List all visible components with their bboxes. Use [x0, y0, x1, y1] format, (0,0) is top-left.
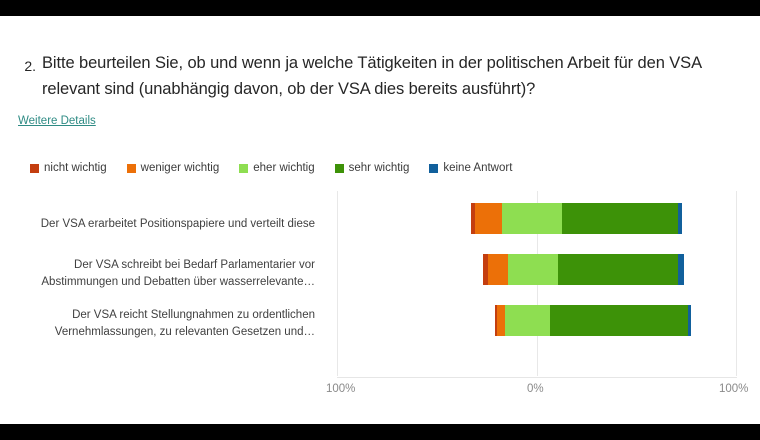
bar-segment[interactable]: [688, 305, 691, 336]
legend-label: eher wichtig: [253, 162, 314, 174]
question-title: Bitte beurteilen Sie, ob und wenn ja wel…: [42, 50, 742, 102]
bar-segment[interactable]: [508, 254, 558, 285]
diverging-stacked-bar-chart: Der VSA erarbeitet Positionspapiere und …: [0, 191, 760, 401]
bar-segment[interactable]: [550, 305, 688, 336]
legend-label: nicht wichtig: [44, 162, 107, 174]
legend-label: sehr wichtig: [349, 162, 410, 174]
x-axis-line: [337, 377, 737, 378]
legend-swatch-icon: [127, 164, 136, 173]
weitere-details-link[interactable]: Weitere Details: [18, 115, 96, 127]
x-axis-tick-label: 100%: [719, 383, 748, 395]
bar-segment[interactable]: [475, 203, 502, 234]
legend-swatch-icon: [30, 164, 39, 173]
legend-label: weniger wichtig: [141, 162, 220, 174]
legend-item-sehr-wichtig[interactable]: sehr wichtig: [335, 162, 410, 174]
legend-swatch-icon: [429, 164, 438, 173]
table-row[interactable]: [337, 203, 737, 234]
legend-item-weniger-wichtig[interactable]: weniger wichtig: [127, 162, 220, 174]
table-row[interactable]: [337, 254, 737, 285]
bar-segment[interactable]: [502, 203, 562, 234]
category-label: Der VSA schreibt bei Bedarf Parlamentari…: [32, 257, 315, 291]
category-label: Der VSA erarbeitet Positionspapiere und …: [32, 216, 315, 233]
legend-item-nicht-wichtig[interactable]: nicht wichtig: [30, 162, 107, 174]
bar-segment[interactable]: [497, 305, 505, 336]
legend-swatch-icon: [335, 164, 344, 173]
legend-swatch-icon: [239, 164, 248, 173]
legend-item-keine-antwort[interactable]: keine Antwort: [429, 162, 512, 174]
bar-segment[interactable]: [505, 305, 550, 336]
x-axis-tick-label: 0%: [527, 383, 544, 395]
legend-label: keine Antwort: [443, 162, 512, 174]
table-row[interactable]: [337, 305, 737, 336]
question-number: 2.: [14, 56, 36, 76]
bar-segment[interactable]: [562, 203, 678, 234]
chart-legend: nicht wichtig weniger wichtig eher wicht…: [30, 162, 532, 174]
category-label: Der VSA reicht Stellungnahmen zu ordentl…: [32, 307, 315, 341]
slide-canvas: 2. Bitte beurteilen Sie, ob und wenn ja …: [0, 16, 760, 424]
x-axis-tick-label: 100%: [326, 383, 355, 395]
bar-segment[interactable]: [488, 254, 508, 285]
plot-area: [337, 191, 737, 376]
bar-segment[interactable]: [558, 254, 678, 285]
legend-item-eher-wichtig[interactable]: eher wichtig: [239, 162, 314, 174]
bar-segment[interactable]: [678, 203, 682, 234]
bar-segment[interactable]: [678, 254, 684, 285]
